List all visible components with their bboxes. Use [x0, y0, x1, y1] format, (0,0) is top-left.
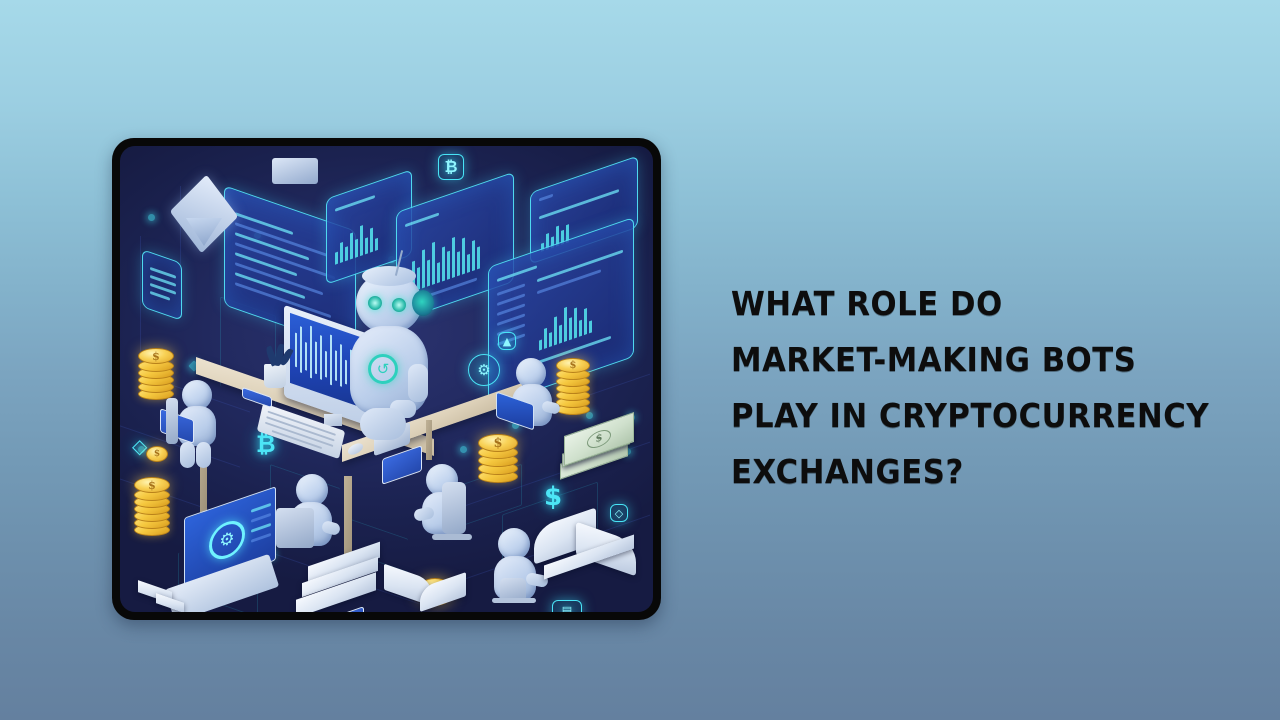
robot-chest-emblem: ↺ — [368, 354, 398, 384]
gear-badge: ⚙ — [468, 354, 500, 386]
robot-headphone — [412, 290, 434, 316]
central-robot: ↺ — [336, 254, 446, 444]
headline-line-4: EXCHANGES? — [731, 444, 1168, 500]
illustration-canvas: ₿ ◇ ₿ $ $ ▲ ◇ ⚙ $ — [120, 146, 653, 612]
robot-leg — [360, 408, 406, 440]
headline-line-2: MARKET-MAKING BOTS — [731, 332, 1168, 388]
chart-badge: ▲ — [498, 332, 516, 350]
robot-arm-right — [408, 364, 428, 402]
crypto-badge-right: ◇ — [610, 504, 628, 522]
worker-left-chair — [166, 398, 178, 444]
device-bottom-right: ▤ — [552, 600, 582, 612]
headline: WHAT ROLE DO MARKET-MAKING BOTS PLAY IN … — [731, 276, 1201, 500]
robot-head-cap — [362, 266, 416, 286]
illustration-frame: ₿ ◇ ₿ $ $ ▲ ◇ ⚙ $ — [112, 138, 661, 620]
worker-mid-right-chair — [442, 482, 466, 534]
robot-eye-left — [368, 296, 382, 310]
bitcoin-icon: ₿ — [438, 154, 464, 180]
dollar-glyph-right: $ — [544, 482, 562, 512]
chair-base-reader — [492, 598, 536, 603]
headline-line-1: WHAT ROLE DO — [731, 276, 1168, 332]
chair-base-mid-right — [432, 534, 472, 540]
robot-eye-right — [392, 298, 406, 312]
plant-pot — [264, 364, 286, 388]
coin-single-left: $ — [146, 446, 168, 462]
server-block-icon — [272, 158, 318, 184]
worker-center-chair — [276, 508, 314, 548]
coin-stack-left-lower: $ — [134, 476, 172, 538]
page-canvas: ₿ ◇ ₿ $ $ ▲ ◇ ⚙ $ — [0, 0, 1280, 720]
headline-line-3: PLAY IN CRYPTOCURRENCY — [731, 388, 1168, 444]
